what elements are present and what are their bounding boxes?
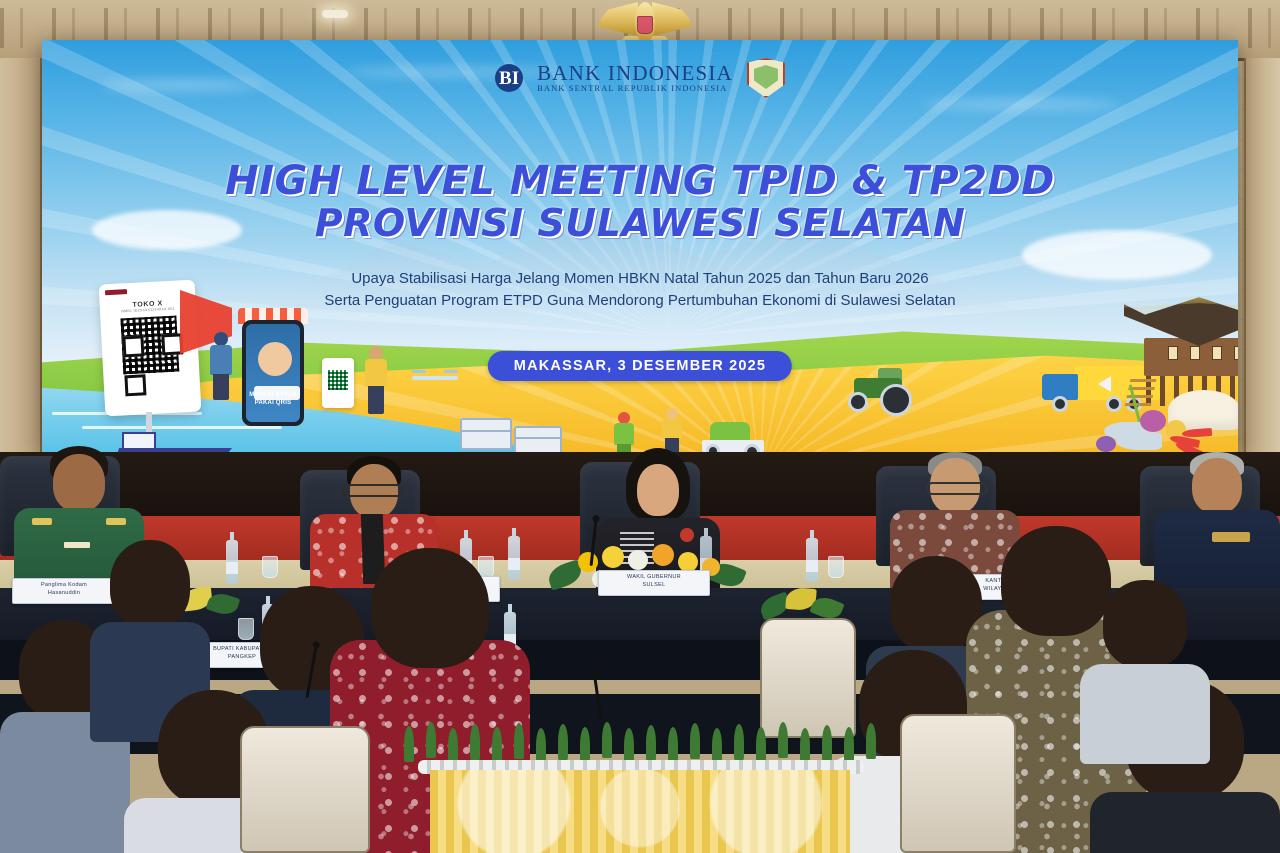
phone-caption-line2: PAKAI QRIS xyxy=(244,400,302,408)
qr-eye xyxy=(124,374,146,396)
epaulette xyxy=(106,518,126,525)
bank-indonesia-line1: BANK INDONESIA xyxy=(537,63,733,84)
garuda-left-wing xyxy=(598,2,638,36)
crate xyxy=(460,418,512,450)
water-bottle xyxy=(508,536,520,580)
banner-subtitle-line1: Upaya Stabilisasi Harga Jelang Momen HBK… xyxy=(42,268,1238,290)
nameplate-line2: SULSEL xyxy=(601,582,707,590)
banner-title-line1: HIGH LEVEL MEETING TPID & TP2DD xyxy=(42,160,1238,203)
banner-date-badge: MAKASSAR, 3 DESEMBER 2025 xyxy=(488,351,792,381)
truck-wheel xyxy=(1106,396,1122,412)
water-bottle xyxy=(806,538,818,582)
tractor-rear-wheel xyxy=(880,384,912,416)
nameplate-wakil-gubernur: WAKIL GUBERNUR SULSEL xyxy=(598,570,710,596)
wall-right-column xyxy=(1244,58,1280,470)
audience-chair xyxy=(240,726,370,853)
house-window xyxy=(1168,346,1178,360)
phone-qris-caption: MARI KI BAYAR PAKAI QRIS xyxy=(244,392,302,408)
phone-caption-line1: MARI KI BAYAR xyxy=(244,392,302,400)
water-bottle xyxy=(226,540,238,584)
wall-left-column xyxy=(0,58,42,470)
mini-qr-code-icon xyxy=(328,370,348,390)
eyeglasses-icon xyxy=(342,484,404,497)
head xyxy=(1192,458,1242,514)
fish-illustration xyxy=(1116,432,1162,450)
eyeglasses-icon xyxy=(926,482,988,495)
name-tag xyxy=(64,542,90,548)
phone-merchant-figure xyxy=(258,342,292,376)
audience-chair xyxy=(760,618,856,738)
tractor-front-wheel xyxy=(848,392,868,412)
drone-illustration xyxy=(412,370,458,386)
head xyxy=(637,464,679,516)
drone-propeller xyxy=(412,370,426,373)
house-window xyxy=(1190,346,1200,360)
tractor-illustration xyxy=(842,370,918,420)
bank-indonesia-line2: BANK SENTRAL REPUBLIK INDONESIA xyxy=(537,84,733,93)
garuda-right-wing xyxy=(652,2,692,36)
bank-indonesia-logo-icon: BI xyxy=(495,64,523,92)
ceiling-light xyxy=(322,10,348,18)
sulawesi-selatan-seal-icon xyxy=(747,58,785,98)
house-window xyxy=(1212,346,1222,360)
drinking-glass xyxy=(262,556,278,578)
drinking-glass xyxy=(828,556,844,578)
harvester-cab xyxy=(710,422,750,442)
head xyxy=(53,454,105,512)
banner-title-line2: PROVINSI SULAWESI SELATAN xyxy=(42,203,1238,244)
nameplate-line1: WAKIL GUBERNUR xyxy=(601,574,707,582)
gold-patterned-carpet xyxy=(430,770,850,853)
water-line xyxy=(82,426,282,429)
drone-propeller xyxy=(444,370,458,373)
mini-qr-card xyxy=(322,358,354,408)
crate xyxy=(514,426,562,452)
drone-body xyxy=(412,376,458,380)
vegetable-eggplant xyxy=(1140,410,1166,432)
conference-room-scene: BI BANK INDONESIA BANK SENTRAL REPUBLIK … xyxy=(0,0,1280,853)
audience-member xyxy=(1080,580,1210,740)
qr-eye xyxy=(122,335,144,357)
smartphone-illustration xyxy=(242,320,304,426)
uniform-insignia xyxy=(1212,532,1250,542)
sky-streak xyxy=(922,100,1122,109)
banner-title: HIGH LEVEL MEETING TPID & TP2DD PROVINSI… xyxy=(42,160,1238,244)
bank-indonesia-wordmark: BANK INDONESIA BANK SENTRAL REPUBLIK IND… xyxy=(537,63,733,93)
epaulette xyxy=(32,518,52,525)
vegetable-onion xyxy=(1096,436,1116,452)
house-window xyxy=(1234,346,1238,360)
qris-brand-mark xyxy=(105,289,127,295)
event-backdrop-banner: BI BANK INDONESIA BANK SENTRAL REPUBLIK … xyxy=(42,40,1238,452)
truck-wheel xyxy=(1052,396,1068,412)
audience-chair xyxy=(900,714,1016,853)
truck-logo-arrow-icon xyxy=(1098,376,1111,392)
banner-logo-row: BI BANK INDONESIA BANK SENTRAL REPUBLIK … xyxy=(42,58,1238,98)
garuda-shield xyxy=(637,16,653,34)
